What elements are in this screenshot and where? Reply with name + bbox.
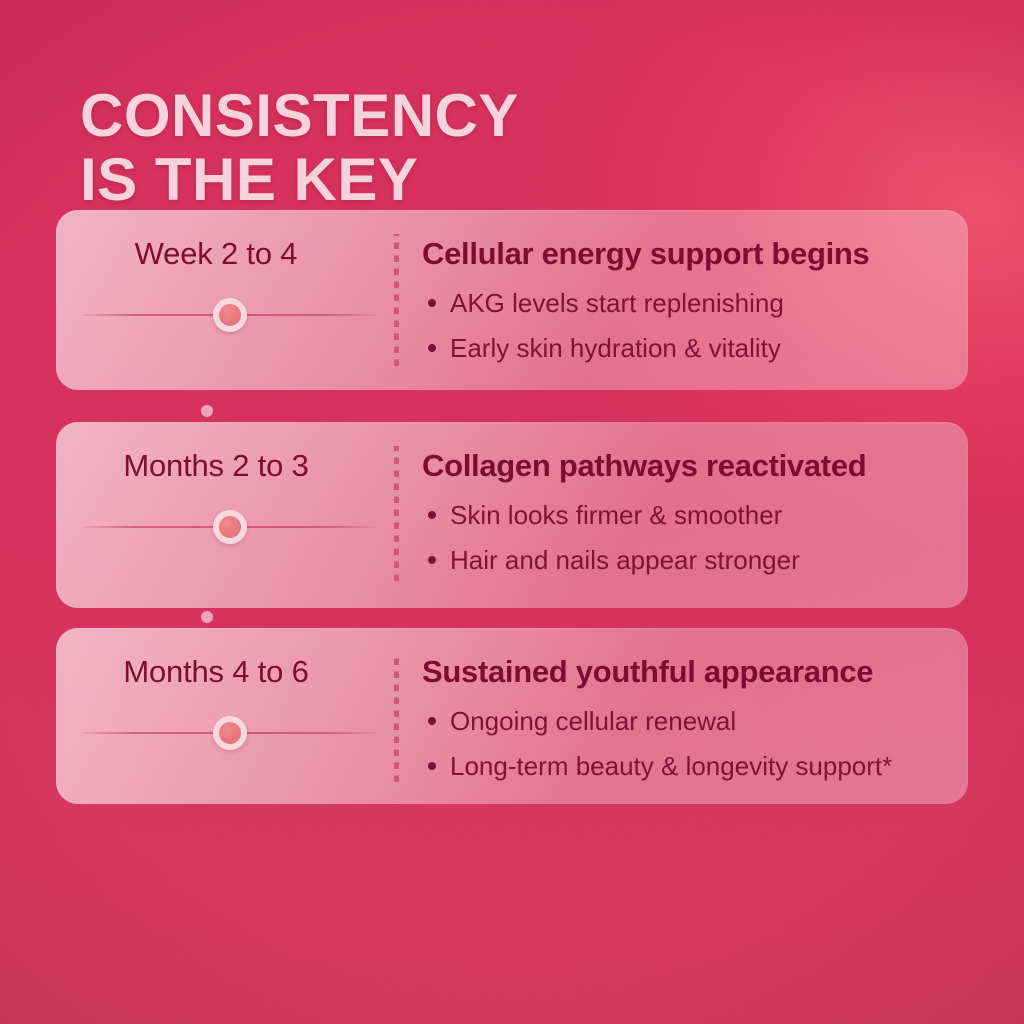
list-item: Long-term beauty & longevity support* <box>426 751 892 782</box>
dotted-divider <box>394 446 399 586</box>
list-item-label: Hair and nails appear stronger <box>450 545 800 575</box>
list-item-label: Long-term beauty & longevity support* <box>450 751 892 781</box>
slider-knob-icon[interactable] <box>213 716 247 750</box>
card-heading: Collagen pathways reactivated <box>422 448 866 484</box>
list-item: Ongoing cellular renewal <box>426 706 892 737</box>
bullet-dot-icon <box>428 299 436 307</box>
list-item-label: Early skin hydration & vitality <box>450 333 781 363</box>
bullet-dot-icon <box>428 511 436 519</box>
card-heading: Cellular energy support begins <box>422 236 869 272</box>
dotted-divider <box>394 234 399 368</box>
period-column: Week 2 to 4 <box>56 210 394 390</box>
period-label: Week 2 to 4 <box>56 236 376 272</box>
page-title-line-1: CONSISTENCY <box>80 84 780 148</box>
timeline-connector-dot-icon <box>201 405 213 417</box>
content-column: Collagen pathways reactivated Skin looks… <box>422 422 948 608</box>
progress-slider[interactable] <box>82 510 378 544</box>
period-label: Months 2 to 3 <box>56 448 376 484</box>
timeline-card[interactable]: Week 2 to 4 Cellular energy support begi… <box>56 210 968 390</box>
list-item: Hair and nails appear stronger <box>426 545 800 576</box>
timeline-connector-dot-icon <box>201 611 213 623</box>
benefit-list: AKG levels start replenishing Early skin… <box>426 288 784 363</box>
bullet-dot-icon <box>428 717 436 725</box>
period-column: Months 4 to 6 <box>56 628 394 804</box>
benefit-list: Ongoing cellular renewal Long-term beaut… <box>426 706 892 781</box>
card-heading: Sustained youthful appearance <box>422 654 873 690</box>
progress-slider[interactable] <box>82 716 378 750</box>
period-label: Months 4 to 6 <box>56 654 376 690</box>
slider-knob-icon[interactable] <box>213 510 247 544</box>
progress-slider[interactable] <box>82 298 378 332</box>
page-title-line-2: IS THE KEY <box>80 148 780 212</box>
content-column: Sustained youthful appearance Ongoing ce… <box>422 628 948 804</box>
bullet-dot-icon <box>428 556 436 564</box>
bullet-dot-icon <box>428 762 436 770</box>
list-item: Early skin hydration & vitality <box>426 333 784 364</box>
list-item-label: Ongoing cellular renewal <box>450 706 736 736</box>
benefit-list: Skin looks firmer & smoother Hair and na… <box>426 500 800 575</box>
timeline-card[interactable]: Months 2 to 3 Collagen pathways reactiva… <box>56 422 968 608</box>
period-column: Months 2 to 3 <box>56 422 394 608</box>
list-item-label: AKG levels start replenishing <box>450 288 784 318</box>
bullet-dot-icon <box>428 344 436 352</box>
list-item-label: Skin looks firmer & smoother <box>450 500 782 530</box>
dotted-divider <box>394 652 399 782</box>
page-title: CONSISTENCY IS THE KEY <box>80 84 780 212</box>
timeline-card[interactable]: Months 4 to 6 Sustained youthful appeara… <box>56 628 968 804</box>
slider-knob-icon[interactable] <box>213 298 247 332</box>
poster-canvas: CONSISTENCY IS THE KEY Week 2 to 4 Cellu… <box>0 0 1024 1024</box>
content-column: Cellular energy support begins AKG level… <box>422 210 948 390</box>
list-item: Skin looks firmer & smoother <box>426 500 800 531</box>
list-item: AKG levels start replenishing <box>426 288 784 319</box>
